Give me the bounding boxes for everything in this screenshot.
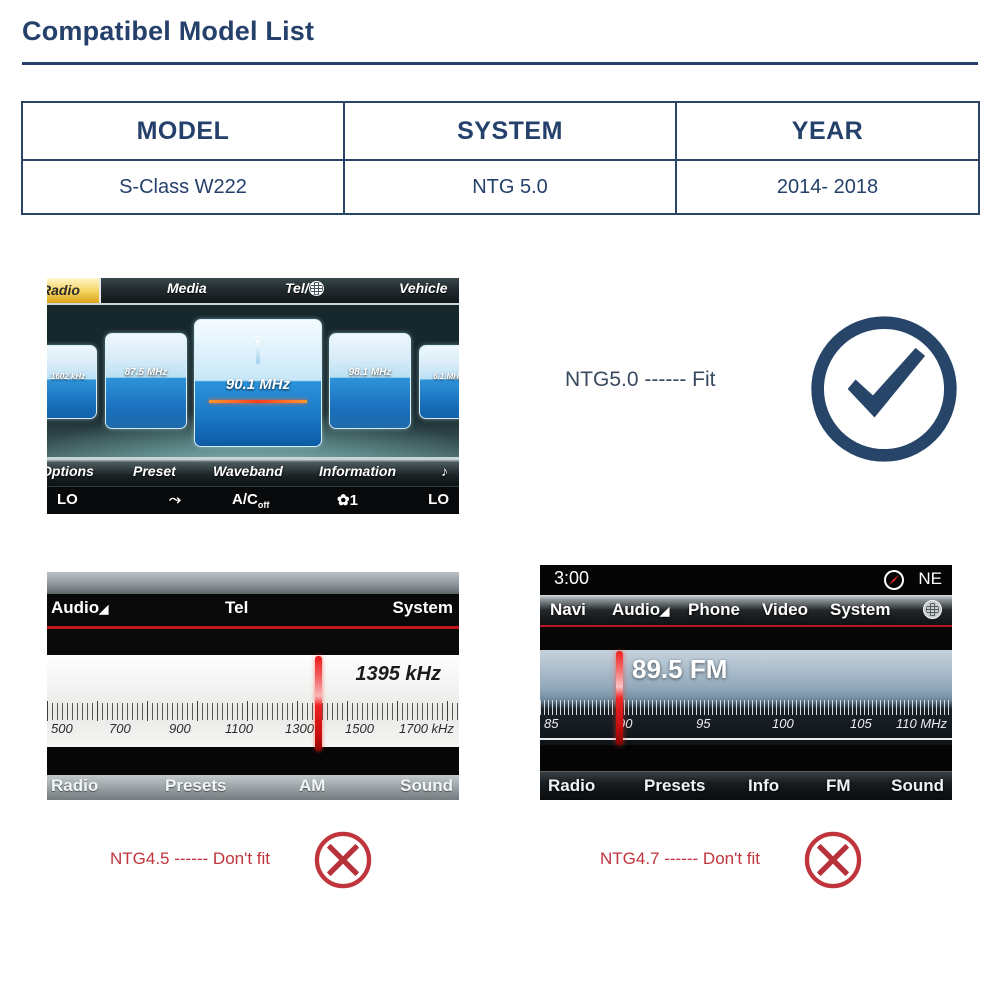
ntg50-tab-tel-label: Tel/: [285, 280, 309, 296]
column-header-system: SYSTEM: [344, 102, 676, 160]
ntg47-frequency-readout: 89.5 FM: [632, 654, 727, 685]
cell-year: 2014- 2018: [676, 160, 979, 214]
ntg47-scale-baseline: [540, 738, 952, 740]
ntg45-scale-label: 1300: [285, 721, 314, 736]
fit-callout-label: NTG5.0 ------ Fit: [565, 368, 715, 392]
ntg50-station-label-active: 90.1 MHz: [195, 376, 321, 393]
ntg45-menu-sound[interactable]: Sound: [400, 776, 453, 796]
ntg45-spacer: [47, 629, 459, 655]
ntg50-menu-options[interactable]: Options: [47, 463, 94, 479]
ntg47-scale-label: 105: [850, 716, 872, 731]
ntg45-frequency-readout: 1395 kHz: [355, 663, 441, 686]
ntg47-tab-video[interactable]: Video: [762, 600, 808, 620]
column-header-model: MODEL: [22, 102, 344, 160]
compatibility-table: MODEL SYSTEM YEAR S-Class W222 NTG 5.0 2…: [21, 101, 980, 215]
cell-system: NTG 5.0: [344, 160, 676, 214]
ntg47-tab-phone[interactable]: Phone: [688, 600, 740, 620]
caret-down-icon: ◢: [660, 604, 669, 618]
ntg47-scale-label: 95: [696, 716, 710, 731]
ntg45-menu-radio[interactable]: Radio: [51, 776, 98, 796]
page-title: Compatibel Model List: [22, 16, 314, 47]
ntg45-menu-am[interactable]: AM: [299, 776, 325, 796]
nofit-callout-label-45: NTG4.5 ------ Don't fit: [110, 849, 270, 869]
climate-fan-level: 1: [350, 492, 358, 509]
ntg45-scale-label: 900: [169, 721, 191, 736]
ntg50-station-label: 98.1 MHz: [330, 367, 410, 378]
ntg47-menu-info[interactable]: Info: [748, 776, 779, 796]
ntg47-spacer: [540, 627, 952, 650]
ntg50-top-menu-bar: Radio Media Tel/ Vehicle: [47, 278, 459, 305]
ntg50-tab-tel[interactable]: Tel/: [285, 280, 324, 296]
airflow-icon[interactable]: ⤳: [169, 491, 181, 508]
ntg45-tab-system[interactable]: System: [393, 598, 453, 618]
ntg45-bottom-menu-bar: Radio Presets AM Sound: [47, 775, 459, 800]
ntg50-active-underline: [209, 400, 307, 403]
globe-icon: [923, 600, 942, 619]
music-note-icon[interactable]: ♪: [441, 463, 448, 479]
ntg47-scale-label: 110 MHz: [896, 716, 947, 731]
ntg45-screenshot: Audio◢ Tel System 1395 kHz 500 700 900 1…: [47, 572, 459, 800]
ntg45-tab-audio-label: Audio: [51, 598, 99, 617]
ntg50-tab-media[interactable]: Media: [167, 280, 207, 296]
ntg50-station-label: 87.5 MHz: [106, 367, 186, 378]
ntg47-globe-button[interactable]: [923, 600, 942, 624]
ntg45-scale-label: 1500: [345, 721, 374, 736]
ntg45-scale-ticks-major: [47, 701, 459, 721]
x-circle-icon: [802, 829, 864, 891]
climate-temp-right[interactable]: LO: [428, 491, 449, 508]
ntg47-menu-presets[interactable]: Presets: [644, 776, 705, 796]
ntg45-scale-label: 700: [109, 721, 131, 736]
ntg47-menu-fm[interactable]: FM: [826, 776, 851, 796]
ntg50-station-card[interactable]: 98.1 MHz: [329, 333, 411, 429]
ntg50-menu-information[interactable]: Information: [319, 463, 396, 479]
ntg47-spacer-lower: [540, 745, 952, 771]
table-row: S-Class W222 NTG 5.0 2014- 2018: [22, 160, 979, 214]
ntg45-spacer-lower: [47, 747, 459, 775]
compass-icon: [884, 570, 904, 590]
ntg47-menu-sound[interactable]: Sound: [891, 776, 944, 796]
ntg47-screenshot: 3:00 NE Navi Audio◢ Phone Video System 8…: [540, 565, 952, 800]
ntg47-top-menu-bar: Navi Audio◢ Phone Video System: [540, 595, 952, 628]
column-header-year: YEAR: [676, 102, 979, 160]
ntg50-tab-radio[interactable]: Radio: [47, 278, 101, 303]
ntg47-tab-audio-label: Audio: [612, 600, 660, 619]
ntg47-fm-tuner[interactable]: 89.5 FM 85 90 95 100 105 110 MHz: [540, 650, 952, 745]
ntg50-tab-vehicle[interactable]: Vehicle: [399, 280, 448, 296]
ntg45-menu-presets[interactable]: Presets: [165, 776, 226, 796]
antenna-icon: [245, 334, 271, 364]
ntg50-screenshot: Radio Media Tel/ Vehicle 1602 kHz 87.5 M…: [47, 278, 459, 514]
ntg50-station-label: 1602 kHz: [47, 372, 96, 381]
ntg45-tuner-cursor[interactable]: [315, 656, 322, 751]
title-divider: [22, 62, 978, 65]
ntg50-menu-preset[interactable]: Preset: [133, 463, 176, 479]
ntg45-tab-audio[interactable]: Audio◢: [51, 598, 108, 618]
ntg50-station-card[interactable]: 6.1 MHz: [419, 345, 459, 419]
climate-ac-label: A/C: [232, 491, 258, 508]
ntg45-scale-label: 500: [51, 721, 73, 736]
ntg50-station-card-active[interactable]: 90.1 MHz: [194, 319, 322, 447]
ntg47-bottom-menu-bar: Radio Presets Info FM Sound: [540, 771, 952, 800]
ntg50-climate-bar: LO ⤳ A/Coff ✿1 LO: [47, 486, 459, 514]
fan-icon: ✿: [337, 492, 350, 509]
climate-fan[interactable]: ✿1: [337, 491, 358, 509]
caret-down-icon: ◢: [99, 602, 108, 616]
cell-model: S-Class W222: [22, 160, 344, 214]
ntg47-menu-radio[interactable]: Radio: [548, 776, 595, 796]
ntg45-am-tuner[interactable]: 1395 kHz 500 700 900 1100 1300 1500 1700…: [47, 655, 459, 747]
climate-ac-status[interactable]: A/Coff: [232, 491, 269, 510]
check-circle-icon: [805, 310, 963, 468]
ntg47-clock: 3:00: [554, 568, 589, 589]
ntg47-heading-label: NE: [918, 569, 942, 589]
ntg47-tab-navi[interactable]: Navi: [550, 600, 586, 620]
ntg47-tab-system[interactable]: System: [830, 600, 890, 620]
climate-ac-state: off: [258, 500, 270, 510]
ntg47-status-bar: 3:00 NE: [540, 565, 952, 595]
globe-icon: [309, 281, 324, 296]
x-circle-icon: [312, 829, 374, 891]
ntg50-station-card[interactable]: 1602 kHz: [47, 345, 97, 419]
table-header-row: MODEL SYSTEM YEAR: [22, 102, 979, 160]
ntg50-station-label: 6.1 MHz: [420, 372, 459, 381]
ntg47-scale-labels: 85 90 95 100 105 110 MHz: [540, 716, 952, 736]
nofit-callout-label-47: NTG4.7 ------ Don't fit: [600, 849, 760, 869]
ntg50-station-carousel: 1602 kHz 87.5 MHz 90.1 MHz 98.1 MHz 6.1 …: [47, 305, 459, 457]
compatibility-page: Compatibel Model List MODEL SYSTEM YEAR …: [0, 0, 1000, 1000]
ntg45-scale-labels: 500 700 900 1100 1300 1500 1700 kHz: [47, 721, 459, 741]
ntg45-scale-label: 1700 kHz: [399, 721, 454, 736]
climate-temp-left[interactable]: LO: [57, 491, 78, 508]
ntg47-tab-audio[interactable]: Audio◢: [612, 600, 669, 620]
ntg45-top-shade: [47, 572, 459, 594]
ntg47-scale-label: 85: [544, 716, 558, 731]
ntg45-top-menu-bar: Audio◢ Tel System: [47, 594, 459, 626]
ntg45-tab-tel[interactable]: Tel: [225, 598, 248, 618]
ntg47-scale-label: 100: [772, 716, 794, 731]
ntg45-scale-label: 1100: [225, 721, 253, 736]
ntg50-menu-waveband[interactable]: Waveband: [213, 463, 283, 479]
ntg47-tuner-cursor[interactable]: [616, 651, 623, 745]
ntg47-scale-ticks: [540, 700, 952, 715]
ntg50-bottom-menu-bar: Options Preset Waveband Information ♪: [47, 457, 459, 486]
ntg50-station-card[interactable]: 87.5 MHz: [105, 333, 187, 429]
